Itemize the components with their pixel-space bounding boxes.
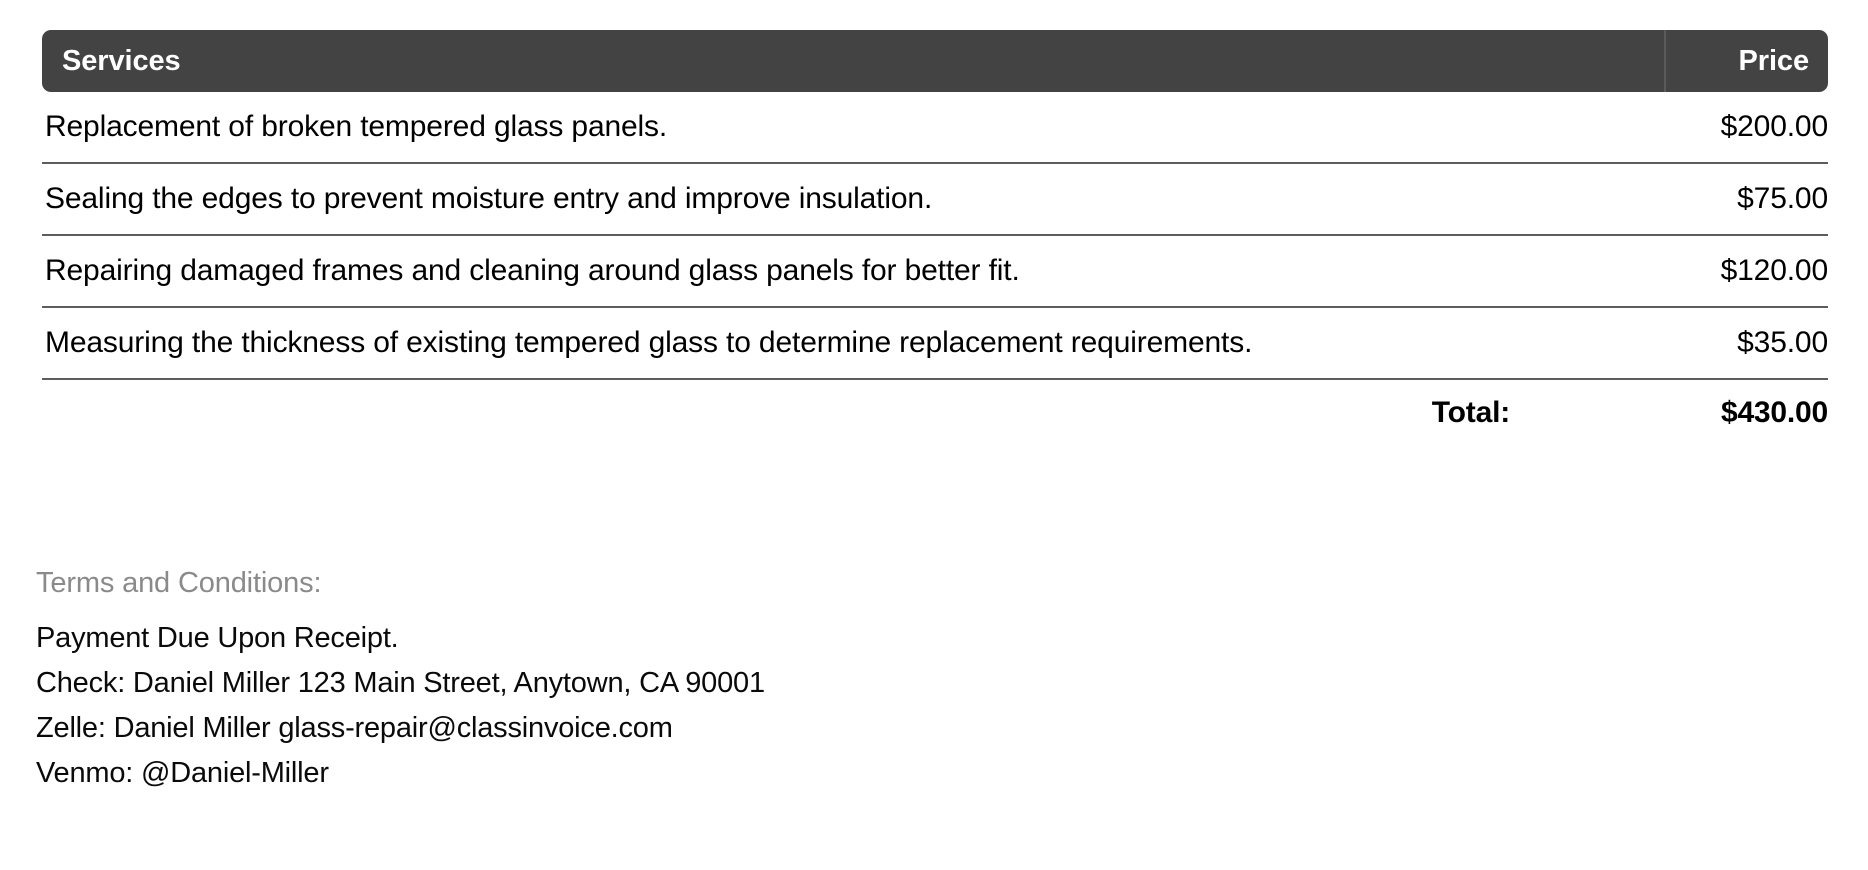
terms-line-venmo: Venmo: @Daniel-Miller xyxy=(36,751,1736,796)
terms-heading: Terms and Conditions: xyxy=(36,567,1736,600)
total-amount: $430.00 xyxy=(1578,396,1828,430)
terms-line-zelle: Zelle: Daniel Miller glass-repair@classi… xyxy=(36,706,1736,751)
column-header-services: Services xyxy=(42,30,1664,92)
terms-and-conditions-section: Terms and Conditions: Payment Due Upon R… xyxy=(36,567,1736,796)
table-header-row: Services Price xyxy=(42,30,1828,92)
services-price-table: Services Price Replacement of broken tem… xyxy=(42,30,1828,446)
column-header-price: Price xyxy=(1666,30,1828,92)
service-price: $75.00 xyxy=(1578,182,1828,216)
total-label: Total: xyxy=(42,396,1578,430)
service-description: Sealing the edges to prevent moisture en… xyxy=(42,182,1578,216)
table-row: Sealing the edges to prevent moisture en… xyxy=(42,164,1828,236)
service-description: Replacement of broken tempered glass pan… xyxy=(42,110,1578,144)
table-row: Replacement of broken tempered glass pan… xyxy=(42,92,1828,164)
table-row: Repairing damaged frames and cleaning ar… xyxy=(42,236,1828,308)
service-description: Repairing damaged frames and cleaning ar… xyxy=(42,254,1578,288)
service-description: Measuring the thickness of existing temp… xyxy=(42,326,1578,360)
service-price: $35.00 xyxy=(1578,326,1828,360)
invoice-page: Services Price Replacement of broken tem… xyxy=(0,0,1868,870)
terms-line-payment-due: Payment Due Upon Receipt. xyxy=(36,616,1736,661)
table-row: Measuring the thickness of existing temp… xyxy=(42,308,1828,380)
service-price: $120.00 xyxy=(1578,254,1828,288)
terms-line-check: Check: Daniel Miller 123 Main Street, An… xyxy=(36,661,1736,706)
table-total-row: Total: $430.00 xyxy=(42,380,1828,446)
service-price: $200.00 xyxy=(1578,110,1828,144)
